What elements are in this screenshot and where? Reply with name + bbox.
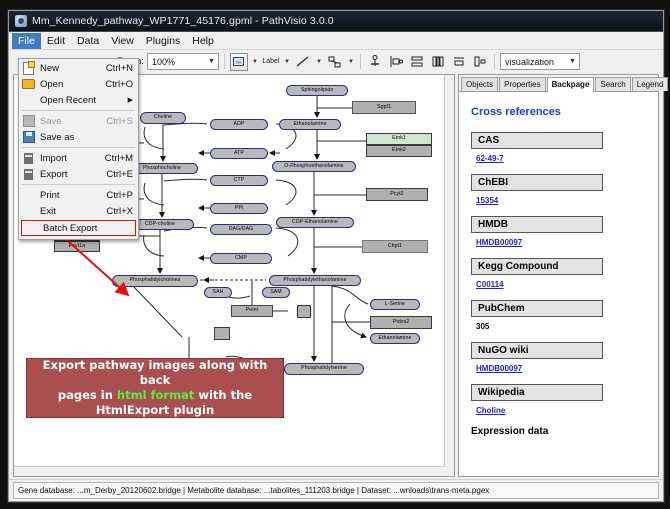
interaction-button[interactable] xyxy=(326,53,344,71)
menu-separator xyxy=(22,147,135,148)
callout-line-2a: pages in xyxy=(58,388,117,402)
xref-value-cas[interactable]: 62-49-7 xyxy=(476,154,648,163)
tab-properties[interactable]: Properties xyxy=(499,77,545,91)
menu-item-open[interactable]: Open Ctrl+O xyxy=(19,76,138,92)
menu-bar: File Edit Data View Plugins Help xyxy=(9,32,663,50)
tab-legend[interactable]: Legend xyxy=(632,77,669,91)
menu-item-label: Batch Export xyxy=(43,223,97,234)
menu-item-label: Save as xyxy=(40,132,74,143)
datanode-button[interactable]: Gn xyxy=(230,53,248,71)
status-text: Gene database: ...m_Derby_20120602.bridg… xyxy=(13,482,659,499)
blank-icon xyxy=(21,189,36,202)
menu-item-export[interactable]: Export Ctrl+E xyxy=(19,166,138,182)
menu-item-label: Exit xyxy=(40,206,56,217)
menu-item-save-as[interactable]: Save as xyxy=(19,129,138,145)
anchor-button[interactable] xyxy=(366,53,384,71)
annotation-callout: Export pathway images along with back pa… xyxy=(26,358,284,418)
zoom-value: 100% xyxy=(152,57,175,67)
line-dropdown-icon[interactable]: ▼ xyxy=(315,59,323,65)
open-folder-icon xyxy=(21,78,36,91)
window-title: Mm_Kennedy_pathway_WP1771_45176.gpml - P… xyxy=(32,15,334,27)
menu-item-batch-export[interactable]: Batch Export xyxy=(21,220,136,236)
title-bar: Mm_Kennedy_pathway_WP1771_45176.gpml - P… xyxy=(9,11,663,32)
blank-icon xyxy=(21,94,36,107)
xref-label-kegg: Kegg Compound xyxy=(471,258,603,275)
menu-item-label: Open xyxy=(40,79,63,90)
menu-separator xyxy=(22,110,135,111)
screenshot-root: Mm_Kennedy_pathway_WP1771_45176.gpml - P… xyxy=(0,0,670,509)
menu-separator xyxy=(22,184,135,185)
callout-highlight: html format xyxy=(117,388,194,402)
xref-value-chebi[interactable]: 15354 xyxy=(476,196,648,205)
menu-item-import[interactable]: Import Ctrl+M xyxy=(19,150,138,166)
align-stack-button[interactable] xyxy=(408,53,426,71)
order-button[interactable] xyxy=(471,53,489,71)
zoom-combo[interactable]: 100% ▼ xyxy=(147,53,219,70)
label-button[interactable]: Label xyxy=(262,53,280,71)
cross-references-heading: Cross references xyxy=(471,106,648,118)
xref-label-hmdb: HMDB xyxy=(471,216,603,233)
align-columns-button[interactable] xyxy=(429,53,447,71)
menu-help[interactable]: Help xyxy=(186,33,220,49)
menu-item-accel: Ctrl+N xyxy=(106,63,138,74)
menu-file[interactable]: File xyxy=(12,33,41,49)
menu-item-accel: Ctrl+X xyxy=(106,206,138,217)
toolbar-separator xyxy=(360,54,361,69)
menu-plugins[interactable]: Plugins xyxy=(140,33,186,49)
menu-item-label: New xyxy=(40,63,59,74)
chevron-down-icon: ▼ xyxy=(207,58,216,65)
svg-text:Gn: Gn xyxy=(236,60,241,65)
menu-item-accel: Ctrl+S xyxy=(106,116,138,127)
menu-data[interactable]: Data xyxy=(71,33,105,49)
menu-item-label: Save xyxy=(40,116,62,127)
size-button[interactable] xyxy=(450,53,468,71)
xref-value-pubchem: 305 xyxy=(476,322,648,331)
callout-line-1: Export pathway images along with back xyxy=(43,358,268,387)
chevron-down-icon: ▼ xyxy=(568,58,577,65)
xref-label-pubchem: PubChem xyxy=(471,300,603,317)
menu-item-accel: Ctrl+M xyxy=(105,153,138,164)
save-as-icon xyxy=(21,131,36,144)
new-file-icon xyxy=(21,62,36,75)
blank-icon xyxy=(24,222,39,235)
xref-value-nugo[interactable]: HMDB00097 xyxy=(476,364,648,373)
menu-item-label: Import xyxy=(40,153,67,164)
xref-label-chebi: ChEBI xyxy=(471,174,603,191)
backpage-content: Cross references CAS 62-49-7 ChEBI 15354… xyxy=(459,92,658,476)
xref-label-nugo: NuGO wiki xyxy=(471,342,603,359)
save-disabled-icon xyxy=(21,115,36,128)
callout-line-3: HtmlExport plugin xyxy=(96,403,214,417)
xref-value-kegg[interactable]: C00114 xyxy=(476,280,648,289)
label-dropdown-icon[interactable]: ▼ xyxy=(283,59,291,65)
line-button[interactable] xyxy=(294,53,312,71)
menu-item-open-recent[interactable]: Open Recent ▶ xyxy=(19,92,138,108)
menu-item-accel: Ctrl+O xyxy=(105,79,138,90)
sidebar-panel: Objects Properties Backpage Search Legen… xyxy=(458,74,659,477)
visualization-combo[interactable]: visualization ▼ xyxy=(500,53,580,70)
callout-line-2b: with the xyxy=(194,388,252,402)
pathvisio-icon xyxy=(15,15,27,27)
xref-label-cas: CAS xyxy=(471,132,603,149)
visualization-value: visualization xyxy=(505,57,554,67)
menu-item-save: Save Ctrl+S xyxy=(19,113,138,129)
sidebar-tabs: Objects Properties Backpage Search Legen… xyxy=(459,75,658,92)
pathvisio-window: Mm_Kennedy_pathway_WP1771_45176.gpml - P… xyxy=(8,10,664,502)
menu-item-label: Open Recent xyxy=(40,95,96,106)
import-icon xyxy=(21,152,36,165)
menu-item-new[interactable]: New Ctrl+N xyxy=(19,60,138,76)
toolbar-separator xyxy=(494,54,495,69)
expression-data-heading: Expression data xyxy=(471,426,648,437)
tab-backpage[interactable]: Backpage xyxy=(547,77,595,92)
toolbar-separator xyxy=(224,54,225,69)
blank-icon xyxy=(21,205,36,218)
status-bar: Gene database: ...m_Derby_20120602.bridg… xyxy=(9,479,663,501)
xref-value-wikipedia[interactable]: Choline xyxy=(476,406,648,415)
export-icon xyxy=(21,168,36,181)
menu-item-label: Print xyxy=(40,190,60,201)
tab-search[interactable]: Search xyxy=(595,77,630,91)
menu-item-print[interactable]: Print Ctrl+P xyxy=(19,187,138,203)
tab-objects[interactable]: Objects xyxy=(461,77,498,91)
menu-item-label: Export xyxy=(40,169,67,180)
align-left-button[interactable] xyxy=(387,53,405,71)
menu-view[interactable]: View xyxy=(105,33,140,49)
xref-label-wikipedia: Wikipedia xyxy=(471,384,603,401)
chevron-right-icon: ▶ xyxy=(128,96,138,104)
menu-item-exit[interactable]: Exit Ctrl+X xyxy=(19,203,138,219)
interaction-dropdown-icon[interactable]: ▼ xyxy=(347,59,355,65)
menu-edit[interactable]: Edit xyxy=(41,33,71,49)
datanode-dropdown-icon[interactable]: ▼ xyxy=(251,59,259,65)
file-menu-popup[interactable]: New Ctrl+N Open Ctrl+O Open Recent ▶ Sav… xyxy=(18,58,139,240)
menu-item-accel: Ctrl+E xyxy=(106,169,138,180)
menu-item-accel: Ctrl+P xyxy=(106,190,138,201)
xref-value-hmdb[interactable]: HMDB00097 xyxy=(476,238,648,247)
